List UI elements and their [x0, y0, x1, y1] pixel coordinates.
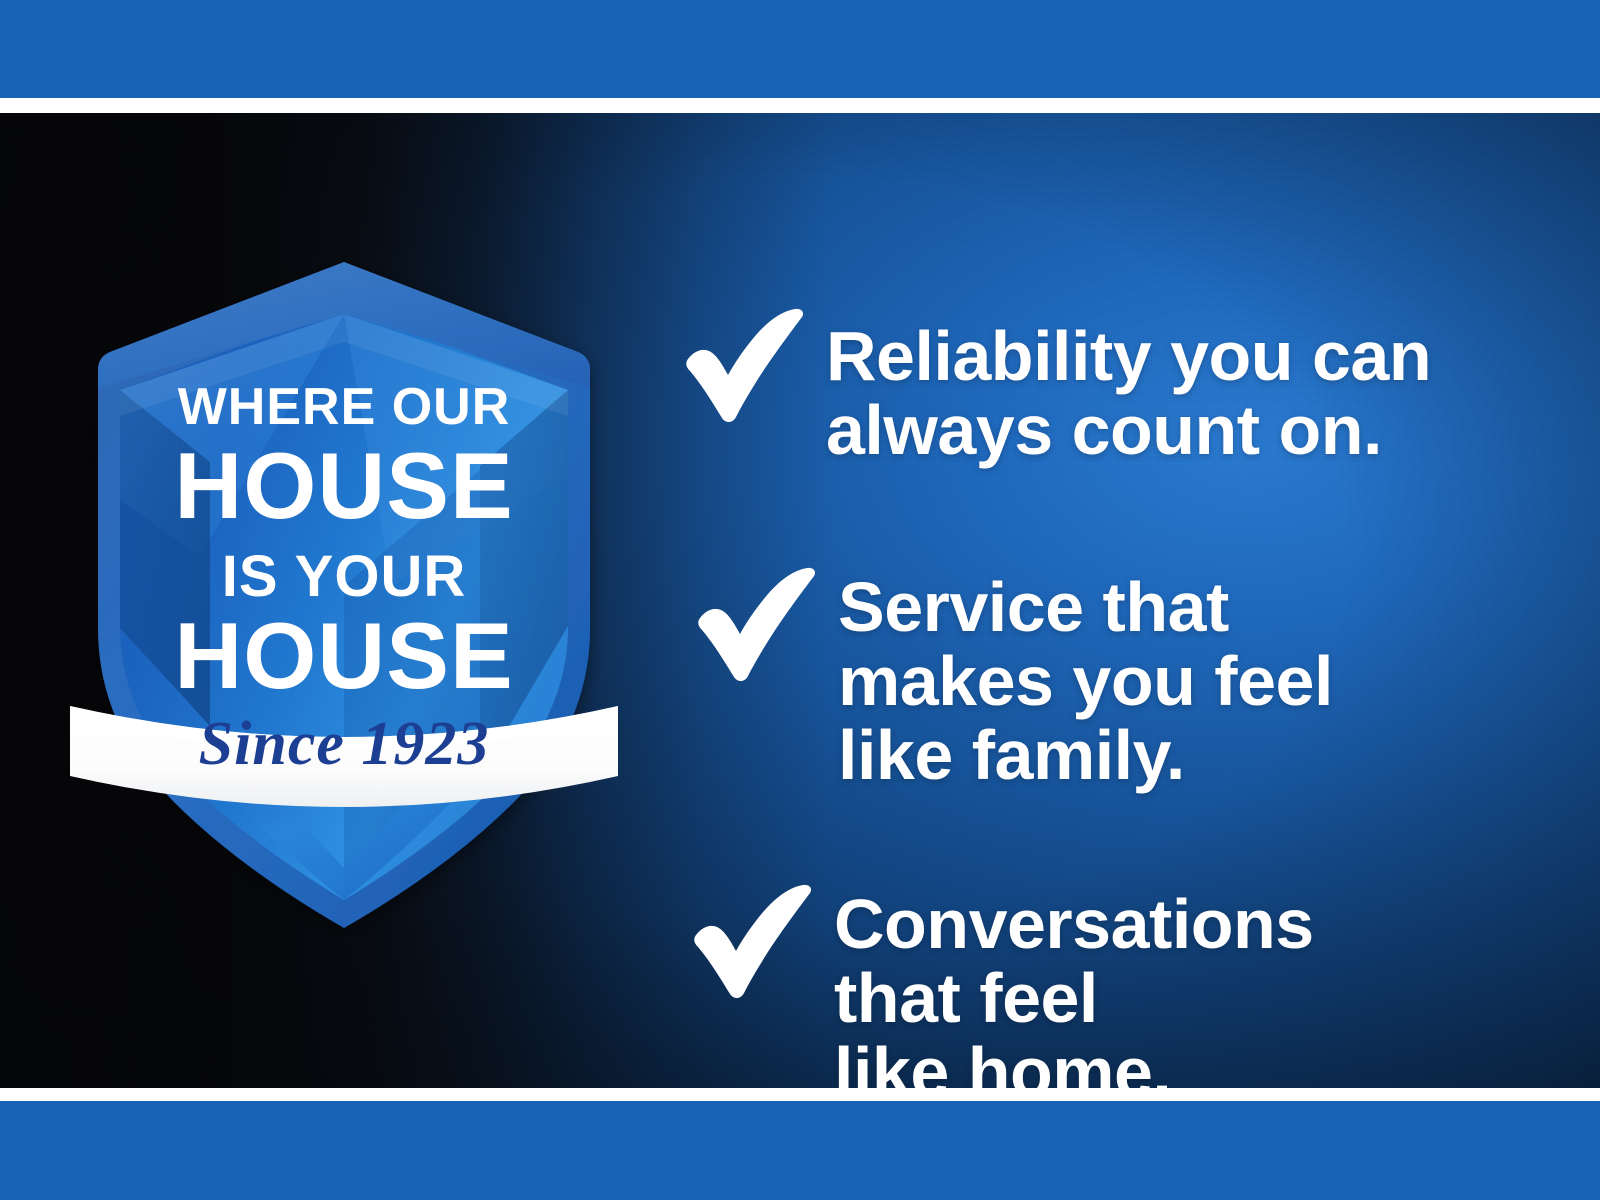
- bottom-white-seam: [0, 1088, 1600, 1101]
- promotional-graphic: WHERE OUR HOUSE IS YOUR HOUSE Since 1923: [0, 0, 1600, 1200]
- top-white-seam: [0, 98, 1600, 114]
- shield-line-4: HOUSE: [174, 603, 513, 708]
- benefit-item-reliability: Reliability you can always count on.: [672, 307, 1431, 467]
- company-logo-shield: WHERE OUR HOUSE IS YOUR HOUSE Since 1923: [62, 256, 622, 936]
- shield-line-2: HOUSE: [174, 433, 513, 538]
- benefit-item-service: Service that makes you feel like family.: [684, 566, 1333, 793]
- benefit-item-conversations: Conversations that feel like home.: [680, 883, 1314, 1088]
- benefit-text: Reliability you can always count on.: [826, 307, 1431, 467]
- benefit-text: Service that makes you feel like family.: [838, 566, 1333, 793]
- artwork-panel: WHERE OUR HOUSE IS YOUR HOUSE Since 1923: [0, 113, 1600, 1088]
- shield-line-1: WHERE OUR: [178, 378, 511, 436]
- bottom-brand-bar: [0, 1101, 1600, 1200]
- checkmark-icon: [680, 883, 818, 1001]
- benefit-text: Conversations that feel like home.: [834, 883, 1314, 1088]
- shield-banner-text: Since 1923: [199, 710, 490, 778]
- checkmark-icon: [672, 307, 810, 425]
- top-brand-bar: [0, 0, 1600, 98]
- checkmark-icon: [684, 566, 822, 684]
- shield-line-3: IS YOUR: [222, 544, 466, 609]
